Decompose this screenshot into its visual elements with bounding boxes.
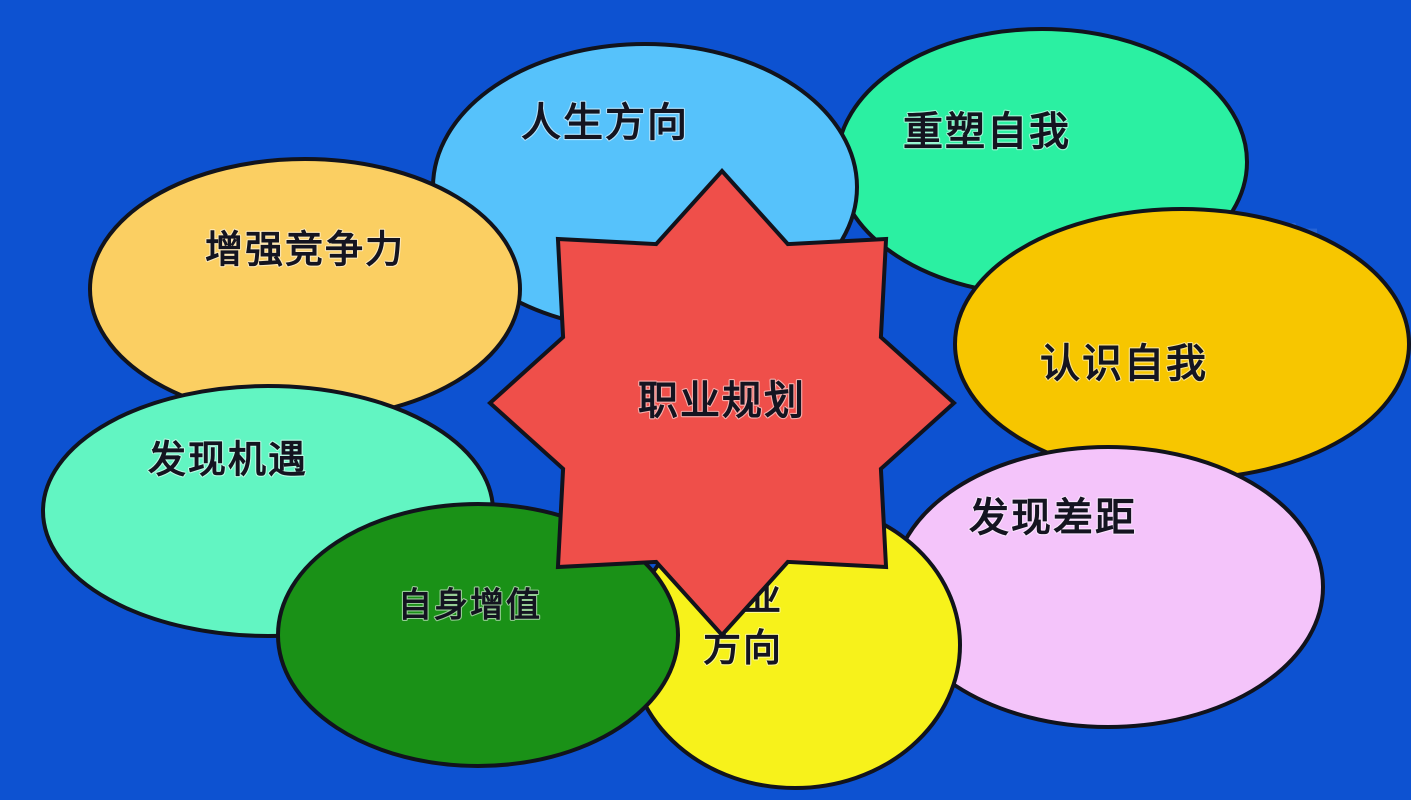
node-label-career-direction: 方向 (703, 626, 783, 670)
diagram-canvas: 百度百度百度 重塑自我认识自我发现差距人生方向增强竞争力发现机遇职业方向自身增值… (0, 0, 1411, 800)
node-label-discover-opportunities: 发现机遇 (148, 438, 308, 482)
center-node[interactable]: 职业规划 (490, 171, 954, 635)
node-label-life-direction: 人生方向 (521, 100, 689, 146)
node-know-self[interactable]: 认识自我 (955, 209, 1409, 479)
node-label-know-self: 认识自我 (1040, 341, 1208, 387)
node-shape-increase-competitiveness (90, 159, 520, 419)
career-planning-mindmap: 百度百度百度 重塑自我认识自我发现差距人生方向增强竞争力发现机遇职业方向自身增值… (0, 0, 1411, 800)
node-shape-find-gaps (893, 447, 1323, 727)
node-find-gaps[interactable]: 发现差距 (893, 447, 1323, 727)
node-label-find-gaps: 发现差距 (969, 495, 1137, 541)
center-star-label: 职业规划 (638, 378, 806, 424)
node-increase-competitiveness[interactable]: 增强竞争力 (90, 159, 520, 419)
node-label-reshape-self: 重塑自我 (903, 109, 1071, 155)
node-label-increase-competitiveness: 增强竞争力 (205, 228, 405, 272)
node-label-self-appreciation: 自身增值 (398, 586, 542, 626)
